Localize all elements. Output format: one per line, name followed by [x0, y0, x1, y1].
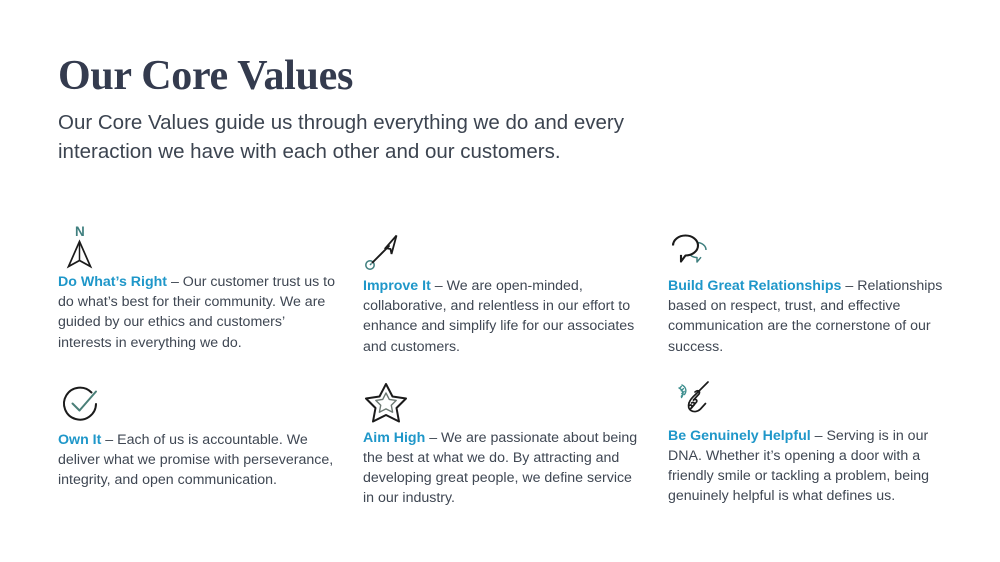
value-description: Do What’s Right – Our customer trust us …	[58, 272, 341, 353]
value-item-aim-high: Aim High – We are passionate about being…	[363, 380, 668, 509]
value-description: Own It – Each of us is accountable. We d…	[58, 430, 341, 491]
compass-north-icon: N	[58, 222, 341, 268]
page-header: Our Core Values Our Core Values guide us…	[58, 52, 678, 166]
value-item-improve-it: Improve It – We are open-minded, collabo…	[363, 222, 668, 357]
page-subtitle: Our Core Values guide us through everyth…	[58, 108, 628, 166]
value-description: Build Great Relationships – Relationship…	[668, 276, 951, 357]
page-title: Our Core Values	[58, 52, 678, 100]
value-description: Be Genuinely Helpful – Serving is in our…	[668, 426, 951, 507]
value-term: Improve It	[363, 278, 431, 294]
value-term: Be Genuinely Helpful	[668, 428, 811, 444]
value-term: Build Great Relationships	[668, 278, 841, 294]
helping-hand-dna-icon	[668, 376, 951, 422]
check-circle-icon	[58, 380, 341, 426]
value-item-do-whats-right: N Do What’s Right – Our customer trust u…	[58, 222, 363, 357]
value-term: Do What’s Right	[58, 274, 167, 290]
compass-north-letter: N	[75, 224, 85, 239]
speech-bubbles-icon	[668, 226, 951, 272]
value-term: Own It	[58, 432, 101, 448]
value-term: Aim High	[363, 430, 425, 446]
value-item-be-genuinely-helpful: Be Genuinely Helpful – Serving is in our…	[668, 380, 973, 509]
star-icon	[363, 378, 646, 424]
value-item-own-it: Own It – Each of us is accountable. We d…	[58, 380, 363, 509]
values-row-bottom: Own It – Each of us is accountable. We d…	[58, 380, 948, 509]
value-item-build-great-relationships: Build Great Relationships – Relationship…	[668, 222, 973, 357]
value-description: Aim High – We are passionate about being…	[363, 428, 646, 509]
values-row-top: N Do What’s Right – Our customer trust u…	[58, 222, 948, 357]
rising-arrow-icon	[363, 226, 646, 272]
value-description: Improve It – We are open-minded, collabo…	[363, 276, 646, 357]
core-values-grid: N Do What’s Right – Our customer trust u…	[58, 222, 948, 509]
